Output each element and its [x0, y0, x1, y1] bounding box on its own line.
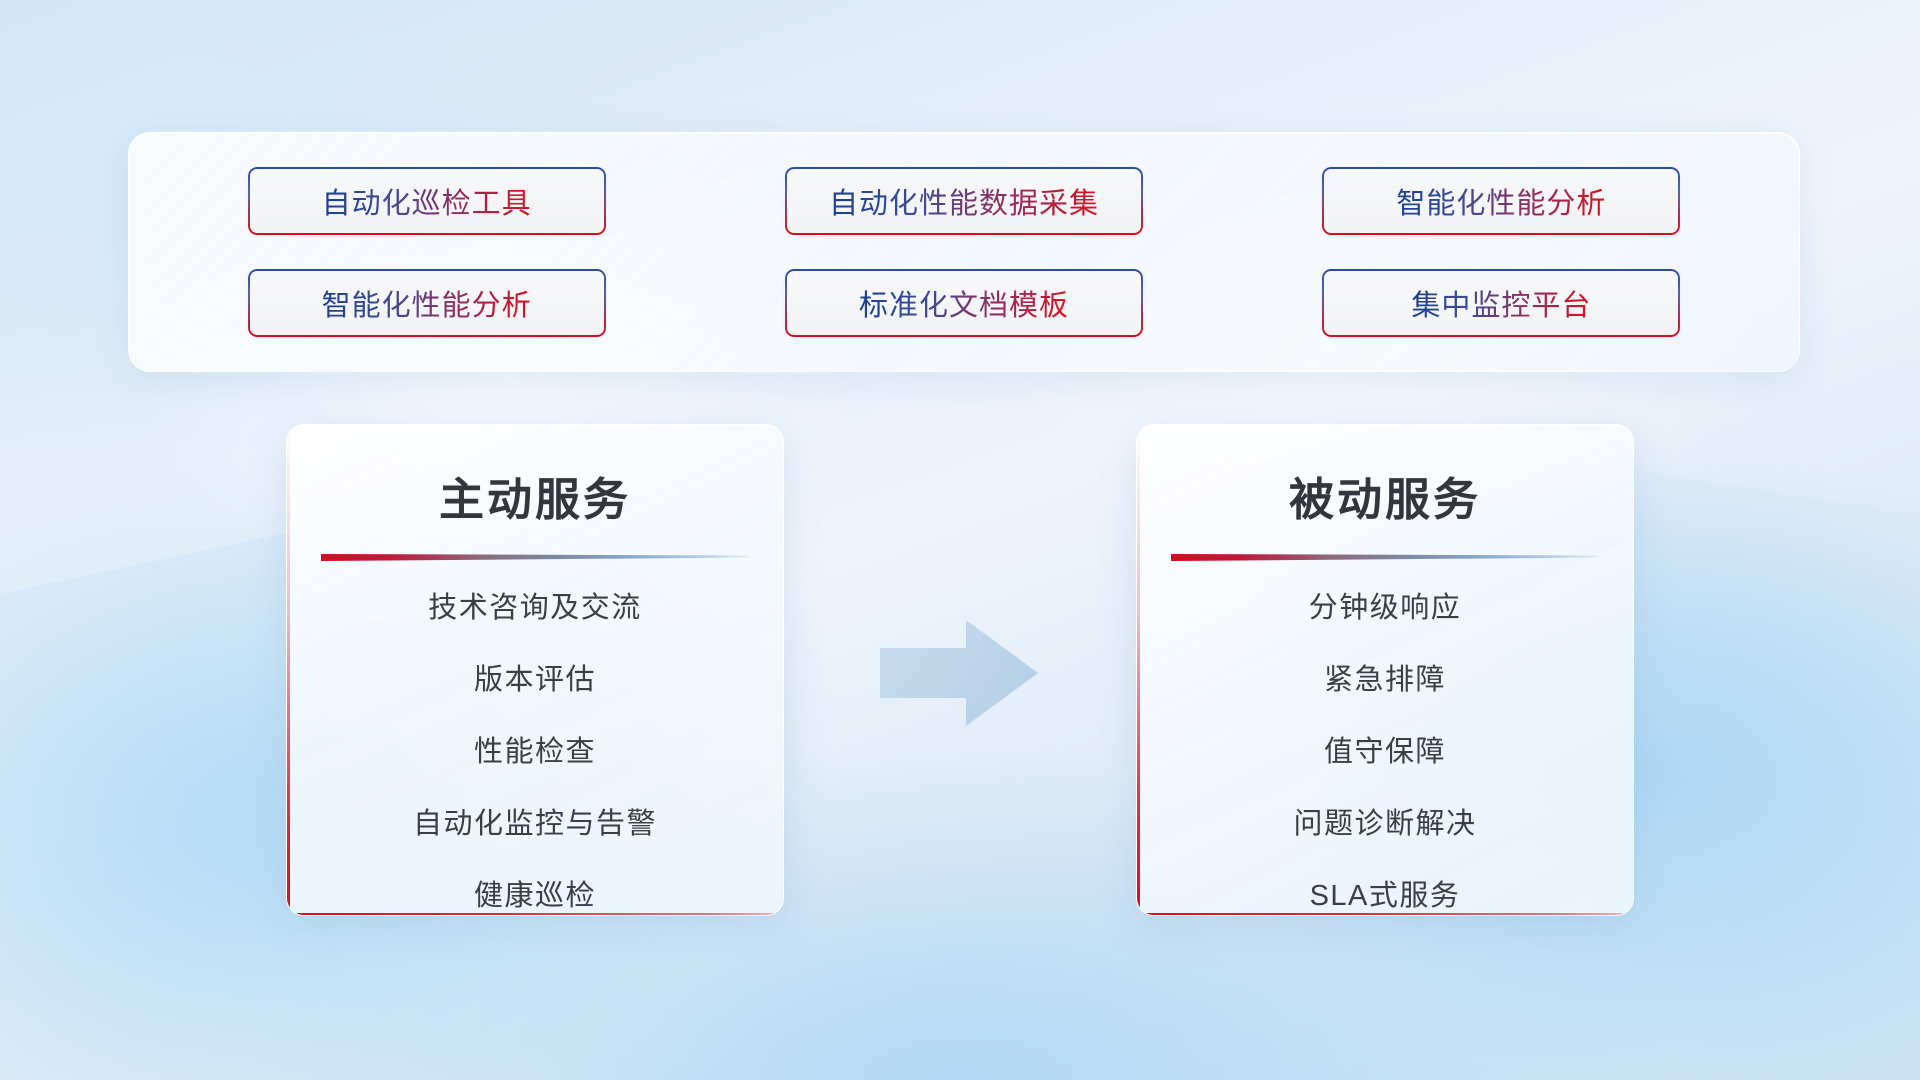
- capability-tag-centralized-monitoring-platform[interactable]: 集中监控平台: [1322, 269, 1680, 337]
- divider-bar: [321, 552, 749, 561]
- list-item: 版本评估: [474, 650, 596, 710]
- capability-tag-standardized-document-template[interactable]: 标准化文档模板: [785, 269, 1143, 337]
- divider-bar: [1171, 552, 1599, 561]
- list-item: 值守保障: [1324, 722, 1446, 782]
- capability-tag-panel: 自动化巡检工具 自动化性能数据采集 智能化性能分析 智能化性能分析 标准化文档模…: [128, 132, 1800, 372]
- list-item: 分钟级响应: [1309, 578, 1462, 638]
- service-card-title: 主动服务: [439, 463, 631, 528]
- capability-tag-label: 标准化文档模板: [859, 282, 1069, 324]
- capability-tag-intelligent-performance-analysis-2[interactable]: 智能化性能分析: [248, 269, 606, 337]
- capability-tag-label: 智能化性能分析: [322, 282, 532, 324]
- capability-tag-label: 集中监控平台: [1411, 282, 1591, 324]
- list-item: SLA式服务: [1310, 866, 1461, 916]
- capability-tag-label: 智能化性能分析: [1396, 180, 1606, 222]
- capability-tag-label: 自动化巡检工具: [322, 180, 532, 222]
- service-card-proactive: 主动服务 技术咨询及交流 版本评估 性能检查 自动化监控与告警 健康巡检: [286, 424, 784, 916]
- service-item-list: 分钟级响应 紧急排障 值守保障 问题诊断解决 SLA式服务: [1137, 578, 1633, 916]
- service-item-list: 技术咨询及交流 版本评估 性能检查 自动化监控与告警 健康巡检: [287, 578, 783, 916]
- capability-tag-automated-inspection-tool[interactable]: 自动化巡检工具: [248, 167, 606, 235]
- slide-canvas: 自动化巡检工具 自动化性能数据采集 智能化性能分析 智能化性能分析 标准化文档模…: [0, 0, 1920, 1080]
- list-item: 问题诊断解决: [1293, 794, 1476, 854]
- service-card-reactive: 被动服务 分钟级响应 紧急排障 值守保障 问题诊断解决 SLA式服务: [1136, 424, 1634, 916]
- capability-tag-automated-performance-data-collection[interactable]: 自动化性能数据采集: [785, 167, 1143, 235]
- capability-tag-intelligent-performance-analysis-1[interactable]: 智能化性能分析: [1322, 167, 1680, 235]
- capability-tag-label: 自动化性能数据采集: [829, 180, 1099, 222]
- service-card-title: 被动服务: [1289, 463, 1481, 528]
- right-arrow-icon: [880, 618, 1040, 728]
- list-item: 自动化监控与告警: [413, 794, 657, 854]
- list-item: 紧急排障: [1324, 650, 1446, 710]
- list-item: 性能检查: [474, 722, 596, 782]
- list-item: 健康巡检: [474, 866, 596, 916]
- list-item: 技术咨询及交流: [428, 578, 642, 638]
